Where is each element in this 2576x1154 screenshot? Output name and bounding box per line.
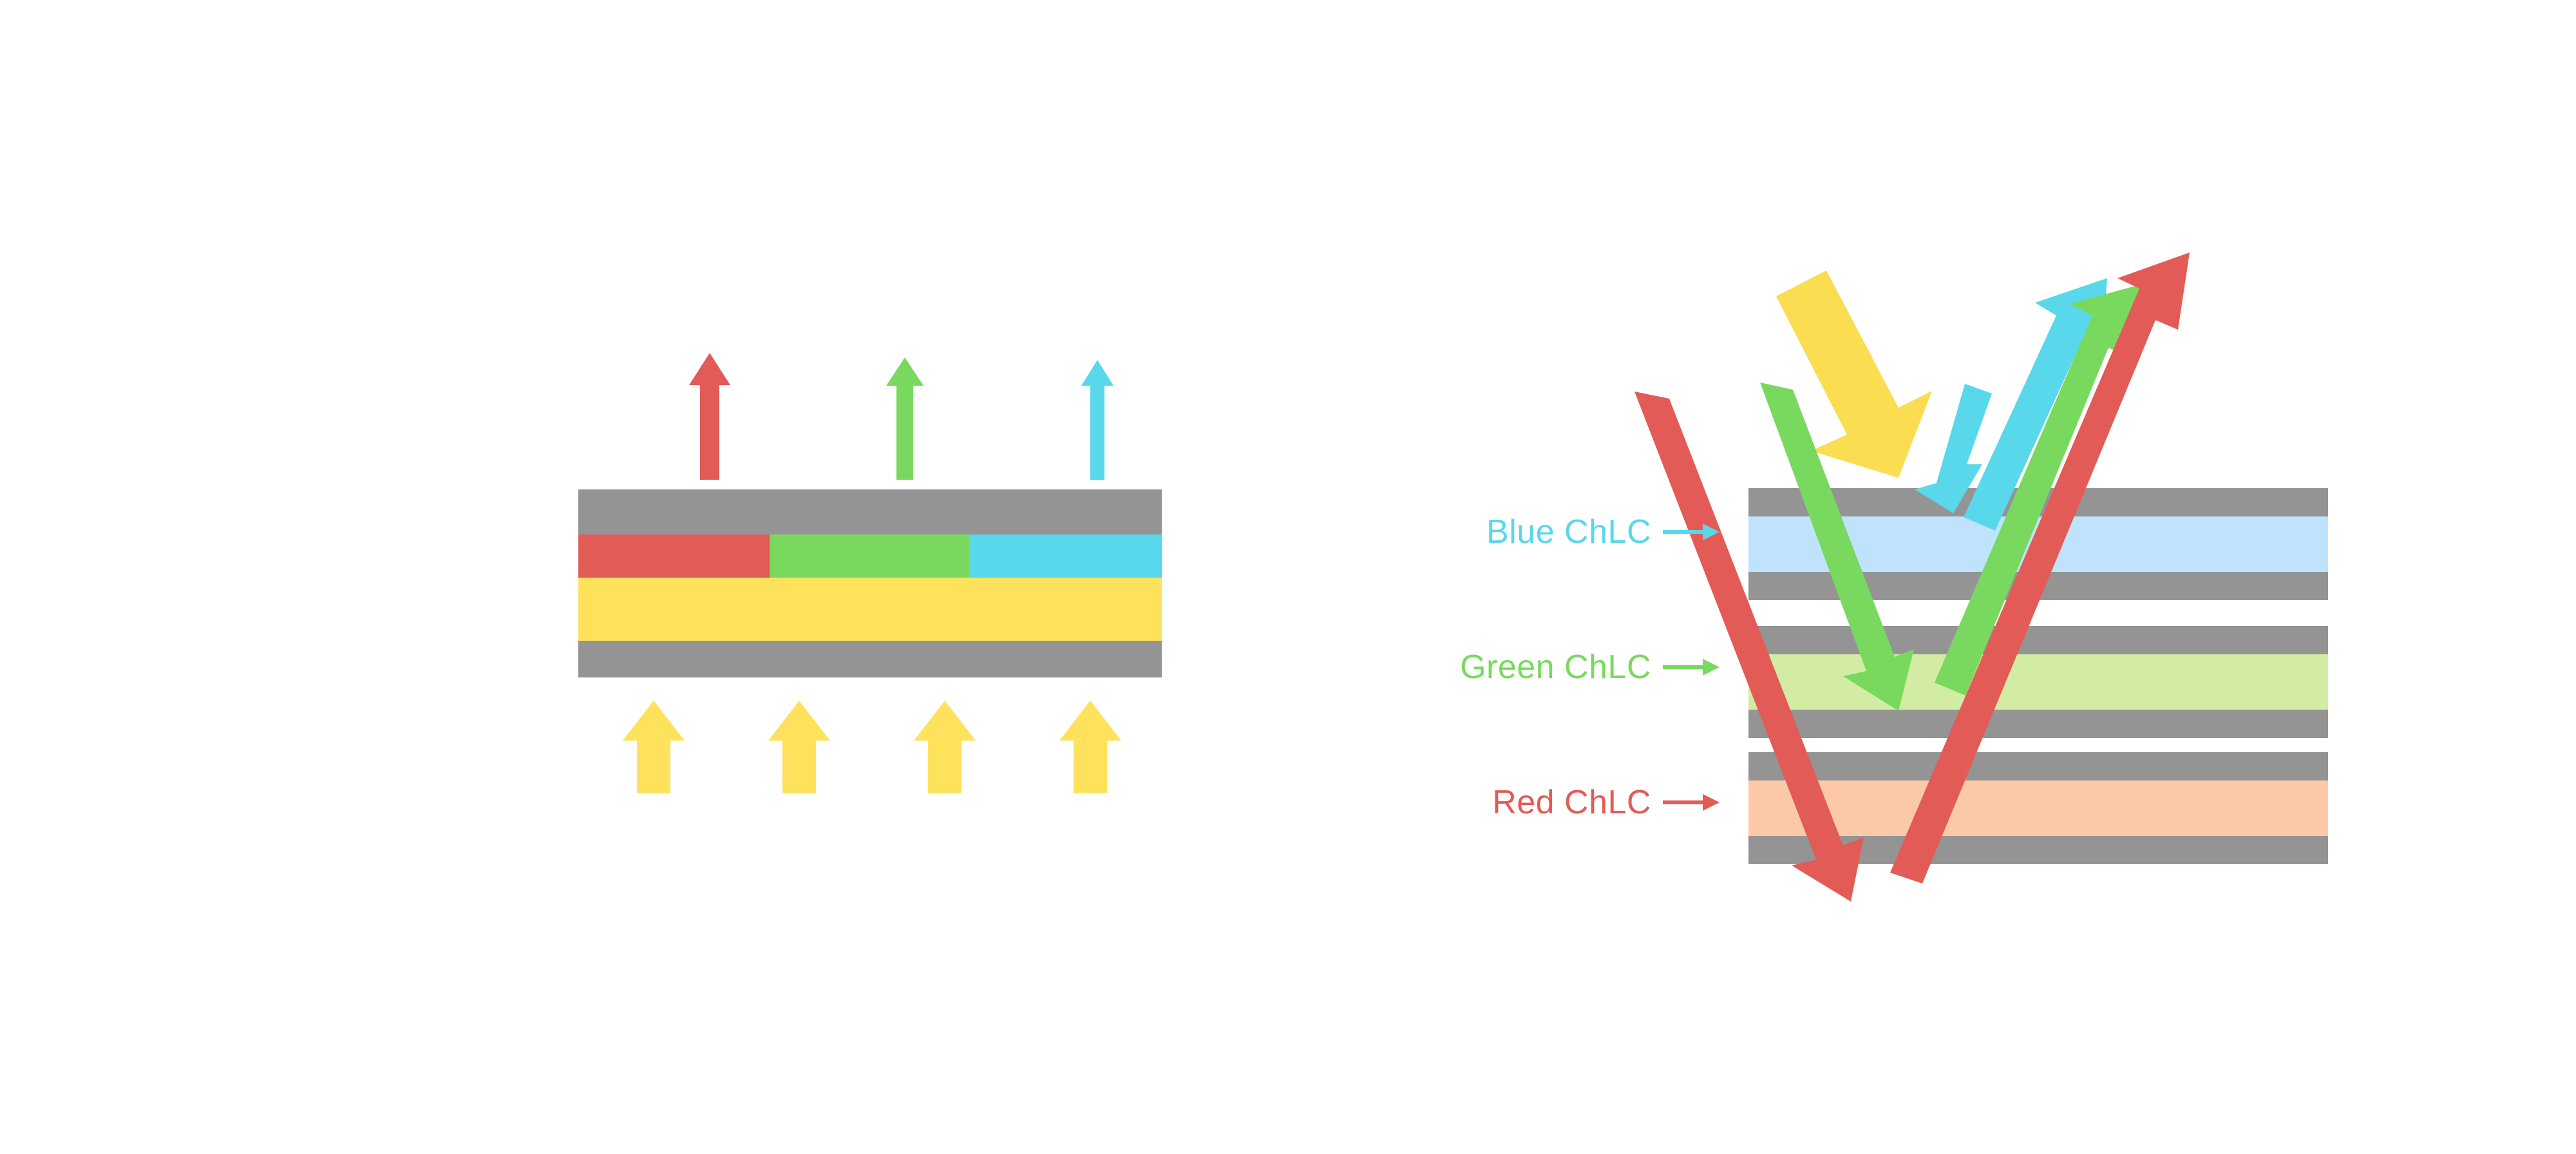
backlight-ray-4-head <box>1059 701 1121 741</box>
green-chlc-pointer-icon <box>1663 665 1719 670</box>
left-backlight-layer <box>578 578 1162 641</box>
red-reflected-ray <box>1890 252 2190 884</box>
red-chlc-label: Red ChLC <box>1492 783 1651 822</box>
green-color-filter-segment <box>770 534 969 578</box>
blue-chlc-label: Blue ChLC <box>1486 513 1651 551</box>
backlight-ray-2-head <box>768 701 830 741</box>
red-emitted-ray <box>684 351 735 480</box>
backlight-ray-3-shaft <box>928 738 961 793</box>
right-panel-chlc-display: Blue ChLC Green ChLC Red ChLC <box>1288 0 2576 1154</box>
backlight-ray-1-shaft <box>637 738 670 793</box>
backlight-ray-3-head <box>914 701 976 741</box>
backlight-ray-3 <box>914 701 976 793</box>
blue-color-filter-segment <box>969 534 1162 578</box>
backlight-ray-4-shaft <box>1074 738 1107 793</box>
blue-chlc-label-row: Blue ChLC <box>1307 509 1719 555</box>
blue-emitted-ray <box>1074 358 1121 480</box>
red-emitted-ray-shaft <box>700 379 719 480</box>
diagram-canvas: Blue ChLC Green ChLC Red ChLC <box>0 0 2576 1154</box>
backlight-ray-4 <box>1059 701 1121 793</box>
backlight-ray-2 <box>768 701 830 793</box>
left-bottom-electrode <box>578 641 1162 677</box>
blue-chlc-pointer-icon <box>1663 529 1719 534</box>
red-chlc-pointer-icon <box>1663 800 1719 805</box>
ray-diagram-overlay <box>1288 0 2576 1154</box>
blue-emitted-ray-shaft <box>1090 381 1104 480</box>
backlight-ray-1 <box>623 701 685 793</box>
red-color-filter-segment <box>578 534 770 578</box>
left-top-electrode <box>578 489 1162 534</box>
left-panel-emissive-display <box>0 0 1288 1154</box>
red-chlc-label-row: Red ChLC <box>1307 779 1719 826</box>
green-emitted-ray-shaft <box>896 381 913 480</box>
backlight-ray-1-head <box>623 701 685 741</box>
green-chlc-label: Green ChLC <box>1460 648 1651 686</box>
left-display-stack <box>578 489 1162 677</box>
green-emitted-ray <box>879 355 931 480</box>
backlight-ray-2-shaft <box>782 738 816 793</box>
green-chlc-label-row: Green ChLC <box>1307 644 1719 690</box>
